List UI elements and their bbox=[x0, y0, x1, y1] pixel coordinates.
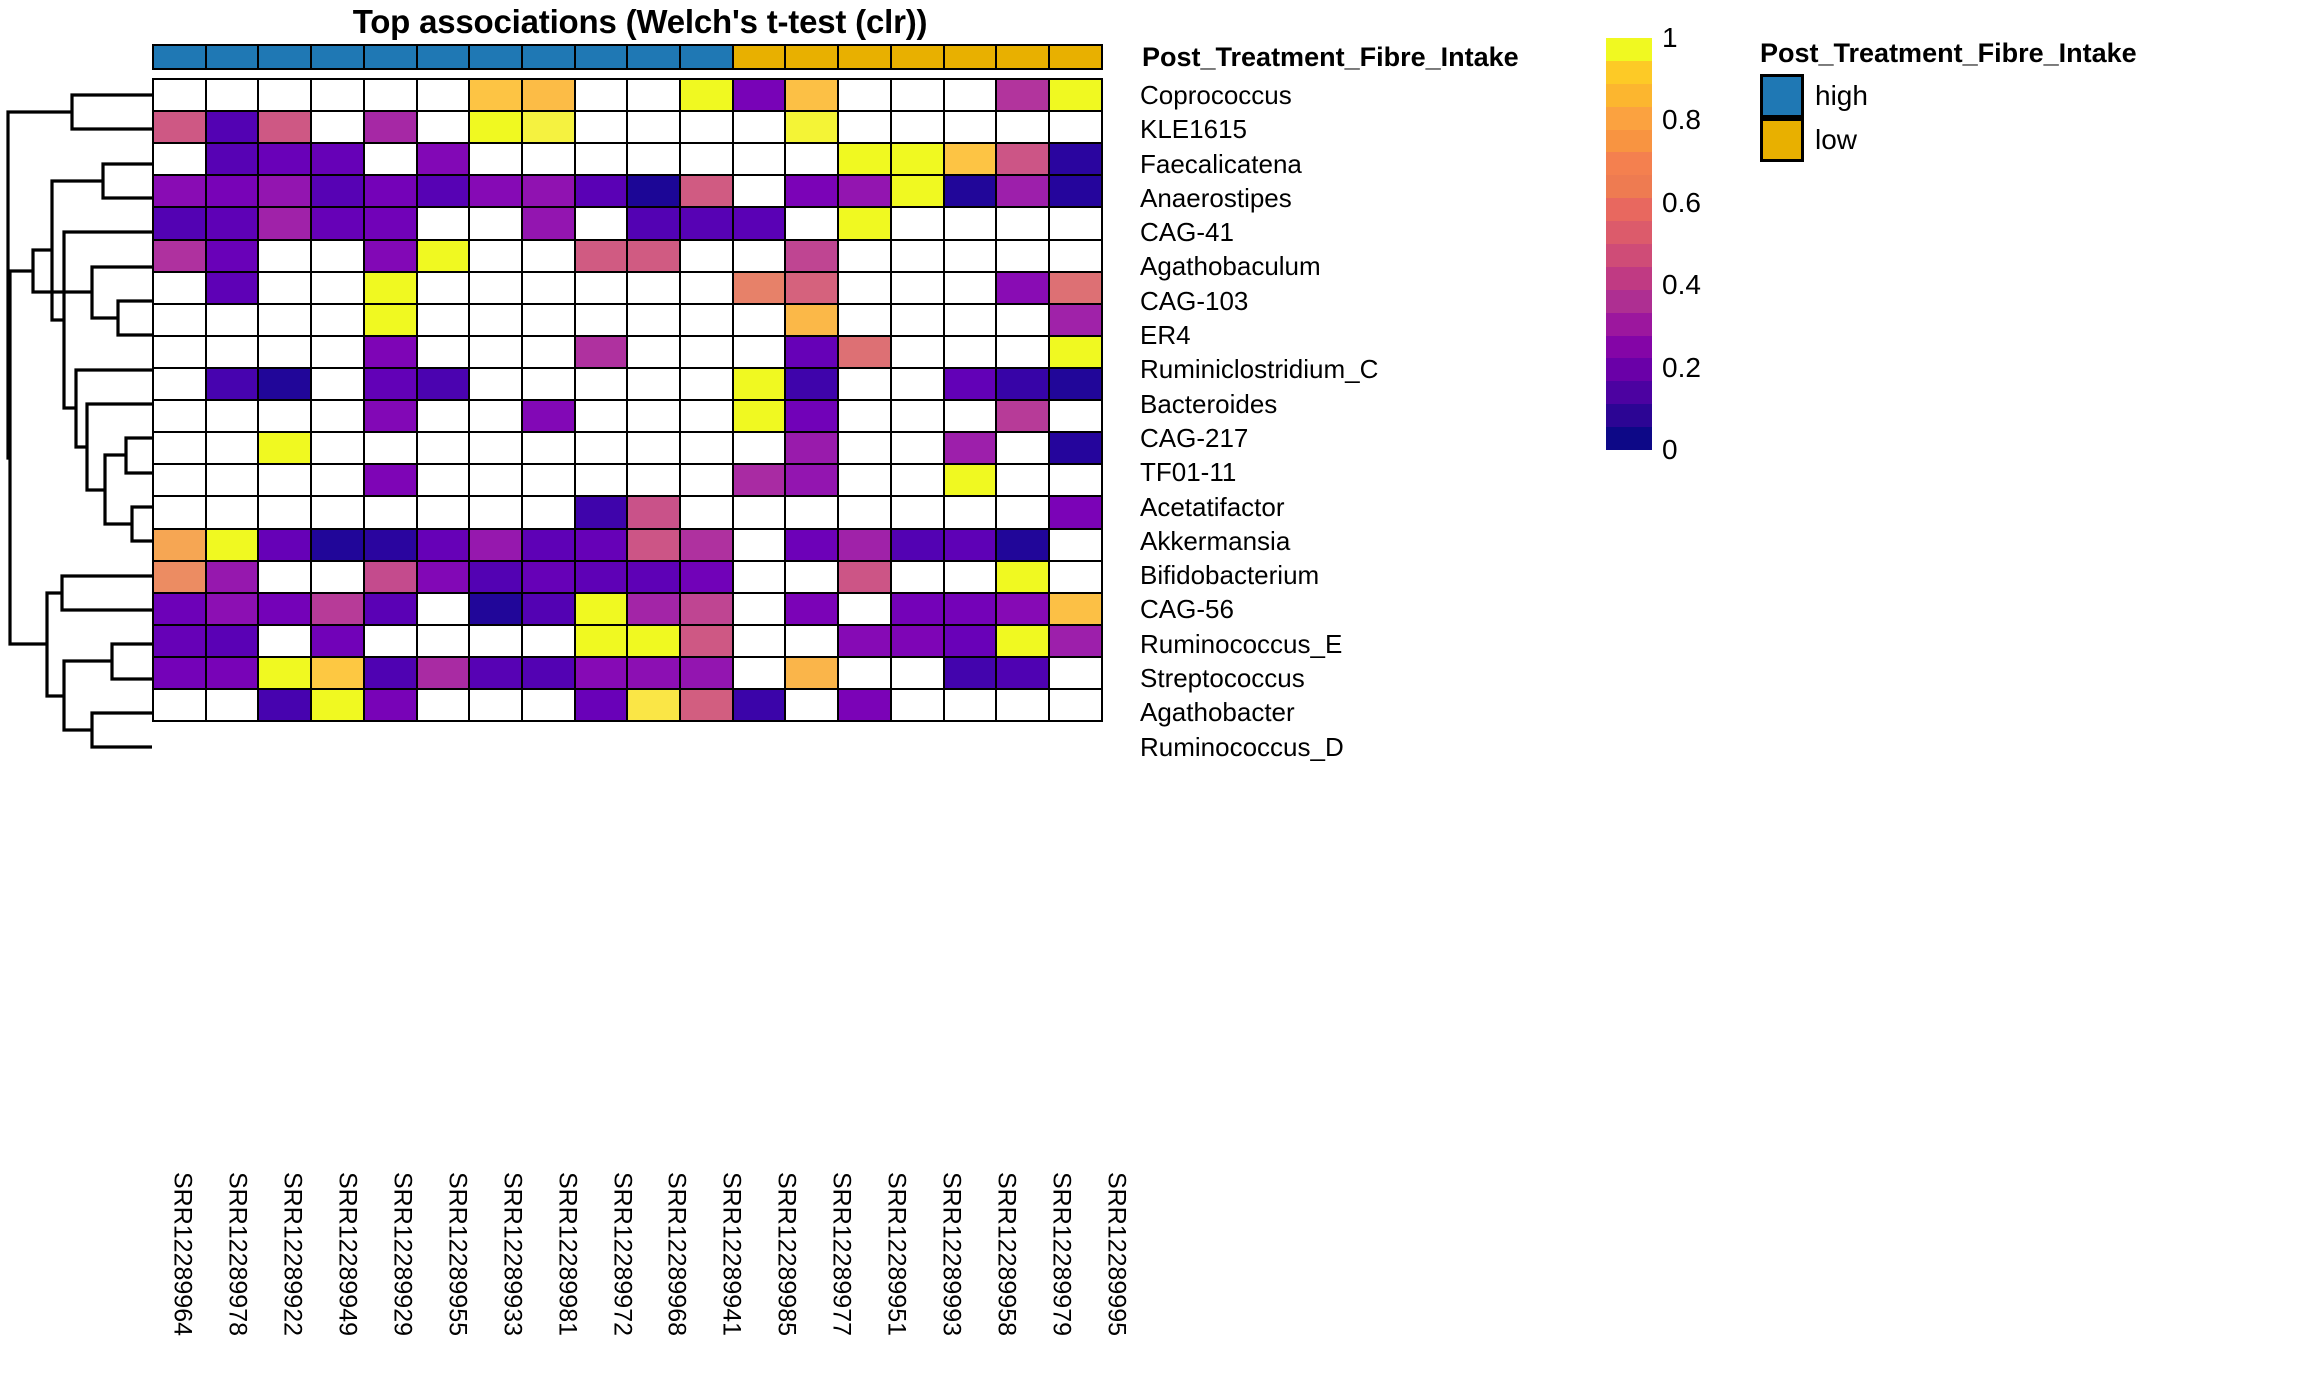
heatmap-cell[interactable] bbox=[837, 399, 892, 433]
heatmap-cell[interactable] bbox=[363, 335, 418, 369]
heatmap-cell[interactable] bbox=[574, 688, 629, 722]
heatmap-cell[interactable] bbox=[416, 495, 471, 529]
heatmap-cell[interactable] bbox=[257, 206, 312, 240]
heatmap-cell[interactable] bbox=[1048, 463, 1103, 497]
heatmap-cell[interactable] bbox=[837, 495, 892, 529]
heatmap-cell[interactable] bbox=[205, 528, 260, 562]
heatmap-cell[interactable] bbox=[257, 335, 312, 369]
heatmap-cell[interactable] bbox=[416, 174, 471, 208]
heatmap-cell[interactable] bbox=[837, 560, 892, 594]
heatmap-cell[interactable] bbox=[521, 206, 576, 240]
heatmap-cell[interactable] bbox=[626, 592, 681, 626]
heatmap-cell[interactable] bbox=[784, 367, 839, 401]
heatmap-cell[interactable] bbox=[416, 624, 471, 658]
heatmap-cell[interactable] bbox=[205, 399, 260, 433]
heatmap-cell[interactable] bbox=[732, 656, 787, 690]
heatmap-cell[interactable] bbox=[1048, 399, 1103, 433]
heatmap-cell[interactable] bbox=[257, 239, 312, 273]
heatmap-cell[interactable] bbox=[1048, 528, 1103, 562]
heatmap-cell[interactable] bbox=[837, 110, 892, 144]
heatmap-cell[interactable] bbox=[152, 110, 207, 144]
heatmap-cell[interactable] bbox=[574, 431, 629, 465]
heatmap-cell[interactable] bbox=[626, 431, 681, 465]
heatmap-cell[interactable] bbox=[152, 271, 207, 305]
heatmap-cell[interactable] bbox=[995, 335, 1050, 369]
heatmap-cell[interactable] bbox=[363, 110, 418, 144]
heatmap-cell[interactable] bbox=[679, 688, 734, 722]
heatmap-cell[interactable] bbox=[943, 206, 998, 240]
heatmap-cell[interactable] bbox=[784, 78, 839, 112]
heatmap-cell[interactable] bbox=[468, 206, 523, 240]
heatmap-cell[interactable] bbox=[363, 528, 418, 562]
heatmap-cell[interactable] bbox=[363, 174, 418, 208]
heatmap-cell[interactable] bbox=[732, 399, 787, 433]
heatmap-cell[interactable] bbox=[521, 463, 576, 497]
heatmap-cell[interactable] bbox=[943, 560, 998, 594]
heatmap-cell[interactable] bbox=[416, 335, 471, 369]
heatmap-cell[interactable] bbox=[943, 656, 998, 690]
heatmap-cell[interactable] bbox=[995, 110, 1050, 144]
heatmap-cell[interactable] bbox=[837, 688, 892, 722]
heatmap-cell[interactable] bbox=[890, 624, 945, 658]
heatmap-cell[interactable] bbox=[363, 78, 418, 112]
heatmap-cell[interactable] bbox=[152, 142, 207, 176]
heatmap-cell[interactable] bbox=[837, 528, 892, 562]
heatmap-cell[interactable] bbox=[468, 335, 523, 369]
heatmap-cell[interactable] bbox=[416, 528, 471, 562]
heatmap-cell[interactable] bbox=[679, 110, 734, 144]
heatmap-cell[interactable] bbox=[310, 495, 365, 529]
heatmap-cell[interactable] bbox=[468, 495, 523, 529]
heatmap-cell[interactable] bbox=[679, 367, 734, 401]
heatmap-cell[interactable] bbox=[995, 656, 1050, 690]
heatmap-cell[interactable] bbox=[310, 206, 365, 240]
heatmap-cell[interactable] bbox=[363, 592, 418, 626]
heatmap-cell[interactable] bbox=[1048, 110, 1103, 144]
heatmap-cell[interactable] bbox=[943, 624, 998, 658]
heatmap-cell[interactable] bbox=[679, 463, 734, 497]
heatmap-cell[interactable] bbox=[257, 78, 312, 112]
heatmap-cell[interactable] bbox=[521, 367, 576, 401]
heatmap-cell[interactable] bbox=[468, 303, 523, 337]
heatmap-cell[interactable] bbox=[890, 174, 945, 208]
heatmap-cell[interactable] bbox=[679, 495, 734, 529]
heatmap-cell[interactable] bbox=[257, 688, 312, 722]
heatmap-cell[interactable] bbox=[679, 399, 734, 433]
heatmap-cell[interactable] bbox=[1048, 174, 1103, 208]
heatmap-cell[interactable] bbox=[626, 367, 681, 401]
heatmap-cell[interactable] bbox=[1048, 495, 1103, 529]
heatmap-cell[interactable] bbox=[416, 592, 471, 626]
heatmap-cell[interactable] bbox=[574, 560, 629, 594]
heatmap-cell[interactable] bbox=[995, 688, 1050, 722]
heatmap-cell[interactable] bbox=[257, 624, 312, 658]
heatmap-cell[interactable] bbox=[574, 463, 629, 497]
heatmap-cell[interactable] bbox=[468, 142, 523, 176]
heatmap-cell[interactable] bbox=[205, 688, 260, 722]
heatmap-cell[interactable] bbox=[890, 271, 945, 305]
heatmap-cell[interactable] bbox=[1048, 592, 1103, 626]
heatmap-cell[interactable] bbox=[626, 78, 681, 112]
heatmap-cell[interactable] bbox=[257, 528, 312, 562]
heatmap-cell[interactable] bbox=[890, 206, 945, 240]
heatmap-cell[interactable] bbox=[310, 239, 365, 273]
heatmap-cell[interactable] bbox=[574, 239, 629, 273]
heatmap-cell[interactable] bbox=[784, 560, 839, 594]
heatmap-cell[interactable] bbox=[943, 303, 998, 337]
heatmap-cell[interactable] bbox=[205, 303, 260, 337]
heatmap-cell[interactable] bbox=[257, 142, 312, 176]
heatmap-cell[interactable] bbox=[521, 624, 576, 658]
heatmap-cell[interactable] bbox=[310, 399, 365, 433]
heatmap-cell[interactable] bbox=[784, 399, 839, 433]
heatmap-cell[interactable] bbox=[205, 624, 260, 658]
heatmap-cell[interactable] bbox=[784, 688, 839, 722]
heatmap-cell[interactable] bbox=[626, 624, 681, 658]
heatmap-cell[interactable] bbox=[205, 239, 260, 273]
heatmap-cell[interactable] bbox=[468, 271, 523, 305]
heatmap-cell[interactable] bbox=[416, 688, 471, 722]
heatmap-cell[interactable] bbox=[205, 174, 260, 208]
heatmap-cell[interactable] bbox=[152, 431, 207, 465]
heatmap-cell[interactable] bbox=[205, 367, 260, 401]
heatmap-cell[interactable] bbox=[837, 431, 892, 465]
heatmap-cell[interactable] bbox=[468, 688, 523, 722]
heatmap-cell[interactable] bbox=[784, 656, 839, 690]
heatmap-cell[interactable] bbox=[1048, 303, 1103, 337]
heatmap-cell[interactable] bbox=[574, 335, 629, 369]
heatmap-cell[interactable] bbox=[943, 367, 998, 401]
heatmap-cell[interactable] bbox=[468, 528, 523, 562]
heatmap-cell[interactable] bbox=[943, 335, 998, 369]
heatmap-cell[interactable] bbox=[152, 624, 207, 658]
heatmap-cell[interactable] bbox=[837, 206, 892, 240]
heatmap-cell[interactable] bbox=[679, 335, 734, 369]
heatmap-cell[interactable] bbox=[257, 463, 312, 497]
heatmap-cell[interactable] bbox=[890, 399, 945, 433]
heatmap-cell[interactable] bbox=[363, 399, 418, 433]
heatmap-cell[interactable] bbox=[995, 206, 1050, 240]
heatmap-cell[interactable] bbox=[205, 431, 260, 465]
heatmap-cell[interactable] bbox=[521, 239, 576, 273]
heatmap-cell[interactable] bbox=[521, 592, 576, 626]
heatmap-cell[interactable] bbox=[626, 560, 681, 594]
heatmap-cell[interactable] bbox=[784, 528, 839, 562]
heatmap-cell[interactable] bbox=[416, 303, 471, 337]
heatmap-cell[interactable] bbox=[679, 206, 734, 240]
heatmap-cell[interactable] bbox=[943, 495, 998, 529]
heatmap-cell[interactable] bbox=[363, 431, 418, 465]
heatmap-cell[interactable] bbox=[468, 463, 523, 497]
heatmap-cell[interactable] bbox=[995, 463, 1050, 497]
heatmap-cell[interactable] bbox=[626, 239, 681, 273]
heatmap-cell[interactable] bbox=[837, 78, 892, 112]
heatmap-cell[interactable] bbox=[784, 206, 839, 240]
heatmap-cell[interactable] bbox=[679, 431, 734, 465]
heatmap-cell[interactable] bbox=[521, 142, 576, 176]
heatmap-cell[interactable] bbox=[205, 206, 260, 240]
heatmap-cell[interactable] bbox=[574, 78, 629, 112]
heatmap-cell[interactable] bbox=[1048, 431, 1103, 465]
heatmap-cell[interactable] bbox=[1048, 335, 1103, 369]
heatmap-cell[interactable] bbox=[152, 592, 207, 626]
heatmap-cell[interactable] bbox=[205, 78, 260, 112]
heatmap-cell[interactable] bbox=[468, 399, 523, 433]
heatmap-cell[interactable] bbox=[837, 656, 892, 690]
heatmap-cell[interactable] bbox=[732, 174, 787, 208]
heatmap-cell[interactable] bbox=[995, 592, 1050, 626]
heatmap-cell[interactable] bbox=[574, 624, 629, 658]
heatmap-cell[interactable] bbox=[784, 174, 839, 208]
heatmap-cell[interactable] bbox=[995, 528, 1050, 562]
heatmap-cell[interactable] bbox=[1048, 624, 1103, 658]
heatmap-cell[interactable] bbox=[468, 239, 523, 273]
heatmap-cell[interactable] bbox=[310, 110, 365, 144]
heatmap-cell[interactable] bbox=[784, 335, 839, 369]
heatmap-cell[interactable] bbox=[416, 463, 471, 497]
heatmap-cell[interactable] bbox=[152, 367, 207, 401]
heatmap-cell[interactable] bbox=[521, 688, 576, 722]
heatmap-cell[interactable] bbox=[732, 688, 787, 722]
heatmap-cell[interactable] bbox=[363, 206, 418, 240]
heatmap-cell[interactable] bbox=[468, 656, 523, 690]
heatmap-cell[interactable] bbox=[679, 656, 734, 690]
heatmap-cell[interactable] bbox=[890, 303, 945, 337]
heatmap-cell[interactable] bbox=[310, 624, 365, 658]
heatmap-cell[interactable] bbox=[679, 78, 734, 112]
heatmap-cell[interactable] bbox=[943, 78, 998, 112]
heatmap-cell[interactable] bbox=[416, 367, 471, 401]
heatmap-cell[interactable] bbox=[732, 431, 787, 465]
heatmap-cell[interactable] bbox=[574, 528, 629, 562]
heatmap-cell[interactable] bbox=[363, 560, 418, 594]
heatmap-cell[interactable] bbox=[363, 656, 418, 690]
heatmap-cell[interactable] bbox=[890, 560, 945, 594]
heatmap-cell[interactable] bbox=[890, 239, 945, 273]
heatmap-cell[interactable] bbox=[732, 142, 787, 176]
heatmap-cell[interactable] bbox=[521, 495, 576, 529]
heatmap-cell[interactable] bbox=[679, 142, 734, 176]
heatmap-cell[interactable] bbox=[416, 110, 471, 144]
heatmap-cell[interactable] bbox=[310, 463, 365, 497]
heatmap-cell[interactable] bbox=[152, 174, 207, 208]
heatmap-cell[interactable] bbox=[1048, 560, 1103, 594]
heatmap-cell[interactable] bbox=[890, 110, 945, 144]
heatmap-cell[interactable] bbox=[890, 656, 945, 690]
heatmap-cell[interactable] bbox=[310, 78, 365, 112]
heatmap-cell[interactable] bbox=[626, 206, 681, 240]
heatmap-cell[interactable] bbox=[363, 239, 418, 273]
heatmap-cell[interactable] bbox=[784, 239, 839, 273]
heatmap-cell[interactable] bbox=[784, 110, 839, 144]
heatmap-cell[interactable] bbox=[890, 495, 945, 529]
heatmap-cell[interactable] bbox=[521, 78, 576, 112]
heatmap-cell[interactable] bbox=[310, 142, 365, 176]
heatmap-cell[interactable] bbox=[521, 528, 576, 562]
heatmap-cell[interactable] bbox=[152, 239, 207, 273]
heatmap-cell[interactable] bbox=[468, 110, 523, 144]
heatmap-cell[interactable] bbox=[732, 78, 787, 112]
heatmap-cell[interactable] bbox=[679, 560, 734, 594]
heatmap-cell[interactable] bbox=[416, 399, 471, 433]
heatmap-cell[interactable] bbox=[1048, 142, 1103, 176]
heatmap-cell[interactable] bbox=[205, 271, 260, 305]
heatmap-cell[interactable] bbox=[837, 592, 892, 626]
heatmap-cell[interactable] bbox=[784, 431, 839, 465]
heatmap-cell[interactable] bbox=[890, 688, 945, 722]
heatmap-cell[interactable] bbox=[995, 495, 1050, 529]
heatmap-cell[interactable] bbox=[1048, 239, 1103, 273]
heatmap-cell[interactable] bbox=[995, 78, 1050, 112]
heatmap-cell[interactable] bbox=[626, 528, 681, 562]
heatmap-cell[interactable] bbox=[310, 174, 365, 208]
heatmap-cell[interactable] bbox=[679, 592, 734, 626]
heatmap-cell[interactable] bbox=[521, 335, 576, 369]
heatmap-cell[interactable] bbox=[837, 271, 892, 305]
heatmap-cell[interactable] bbox=[784, 142, 839, 176]
heatmap-cell[interactable] bbox=[574, 592, 629, 626]
heatmap-cell[interactable] bbox=[416, 239, 471, 273]
heatmap-cell[interactable] bbox=[943, 271, 998, 305]
heatmap-cell[interactable] bbox=[890, 431, 945, 465]
heatmap-cell[interactable] bbox=[995, 431, 1050, 465]
heatmap-cell[interactable] bbox=[574, 142, 629, 176]
heatmap-cell[interactable] bbox=[732, 206, 787, 240]
heatmap-cell[interactable] bbox=[416, 431, 471, 465]
heatmap-cell[interactable] bbox=[363, 495, 418, 529]
heatmap-cell[interactable] bbox=[732, 271, 787, 305]
heatmap-cell[interactable] bbox=[1048, 688, 1103, 722]
heatmap-cell[interactable] bbox=[310, 528, 365, 562]
heatmap-cell[interactable] bbox=[995, 303, 1050, 337]
heatmap-cell[interactable] bbox=[363, 463, 418, 497]
heatmap-cell[interactable] bbox=[626, 142, 681, 176]
heatmap-cell[interactable] bbox=[521, 399, 576, 433]
heatmap-cell[interactable] bbox=[890, 335, 945, 369]
heatmap-cell[interactable] bbox=[310, 271, 365, 305]
heatmap-cell[interactable] bbox=[995, 399, 1050, 433]
heatmap-cell[interactable] bbox=[732, 624, 787, 658]
heatmap-cell[interactable] bbox=[943, 528, 998, 562]
heatmap-cell[interactable] bbox=[521, 271, 576, 305]
heatmap-cell[interactable] bbox=[521, 110, 576, 144]
heatmap-cell[interactable] bbox=[995, 271, 1050, 305]
heatmap-cell[interactable] bbox=[679, 174, 734, 208]
heatmap-cell[interactable] bbox=[679, 271, 734, 305]
heatmap-cell[interactable] bbox=[732, 463, 787, 497]
heatmap-cell[interactable] bbox=[995, 174, 1050, 208]
heatmap-cell[interactable] bbox=[152, 399, 207, 433]
heatmap-cell[interactable] bbox=[732, 335, 787, 369]
heatmap-cell[interactable] bbox=[257, 495, 312, 529]
heatmap-cell[interactable] bbox=[152, 495, 207, 529]
heatmap-cell[interactable] bbox=[626, 174, 681, 208]
heatmap-cell[interactable] bbox=[257, 271, 312, 305]
heatmap-cell[interactable] bbox=[521, 174, 576, 208]
heatmap-cell[interactable] bbox=[205, 335, 260, 369]
heatmap-cell[interactable] bbox=[310, 303, 365, 337]
heatmap-cell[interactable] bbox=[626, 303, 681, 337]
heatmap-cell[interactable] bbox=[521, 303, 576, 337]
heatmap-cell[interactable] bbox=[416, 206, 471, 240]
heatmap-cell[interactable] bbox=[521, 560, 576, 594]
heatmap-cell[interactable] bbox=[784, 463, 839, 497]
heatmap-cell[interactable] bbox=[152, 335, 207, 369]
heatmap-cell[interactable] bbox=[732, 592, 787, 626]
heatmap-cell[interactable] bbox=[732, 367, 787, 401]
heatmap-cell[interactable] bbox=[784, 271, 839, 305]
heatmap-cell[interactable] bbox=[363, 142, 418, 176]
heatmap-cell[interactable] bbox=[310, 688, 365, 722]
heatmap-cell[interactable] bbox=[943, 463, 998, 497]
heatmap-cell[interactable] bbox=[574, 110, 629, 144]
heatmap-cell[interactable] bbox=[416, 656, 471, 690]
heatmap-cell[interactable] bbox=[626, 495, 681, 529]
heatmap-cell[interactable] bbox=[784, 592, 839, 626]
heatmap-cell[interactable] bbox=[205, 110, 260, 144]
heatmap-cell[interactable] bbox=[626, 688, 681, 722]
heatmap-cell[interactable] bbox=[152, 206, 207, 240]
heatmap-cell[interactable] bbox=[363, 303, 418, 337]
heatmap-cell[interactable] bbox=[732, 303, 787, 337]
heatmap-cell[interactable] bbox=[626, 656, 681, 690]
heatmap-cell[interactable] bbox=[363, 367, 418, 401]
heatmap-cell[interactable] bbox=[732, 110, 787, 144]
heatmap-cell[interactable] bbox=[152, 528, 207, 562]
heatmap-cell[interactable] bbox=[257, 174, 312, 208]
heatmap-cell[interactable] bbox=[416, 78, 471, 112]
heatmap-cell[interactable] bbox=[995, 142, 1050, 176]
heatmap-cell[interactable] bbox=[205, 463, 260, 497]
heatmap-cell[interactable] bbox=[152, 560, 207, 594]
heatmap-cell[interactable] bbox=[257, 303, 312, 337]
heatmap-cell[interactable] bbox=[468, 431, 523, 465]
heatmap-cell[interactable] bbox=[679, 624, 734, 658]
heatmap-grid[interactable] bbox=[152, 78, 1101, 720]
heatmap-cell[interactable] bbox=[1048, 367, 1103, 401]
heatmap-cell[interactable] bbox=[732, 239, 787, 273]
heatmap-cell[interactable] bbox=[574, 174, 629, 208]
heatmap-cell[interactable] bbox=[310, 335, 365, 369]
heatmap-cell[interactable] bbox=[205, 495, 260, 529]
heatmap-cell[interactable] bbox=[943, 431, 998, 465]
heatmap-cell[interactable] bbox=[784, 495, 839, 529]
heatmap-cell[interactable] bbox=[416, 271, 471, 305]
heatmap-cell[interactable] bbox=[468, 592, 523, 626]
heatmap-cell[interactable] bbox=[574, 367, 629, 401]
heatmap-cell[interactable] bbox=[310, 367, 365, 401]
heatmap-cell[interactable] bbox=[1048, 656, 1103, 690]
heatmap-cell[interactable] bbox=[310, 592, 365, 626]
heatmap-cell[interactable] bbox=[732, 528, 787, 562]
heatmap-cell[interactable] bbox=[205, 142, 260, 176]
heatmap-cell[interactable] bbox=[890, 367, 945, 401]
heatmap-cell[interactable] bbox=[837, 624, 892, 658]
heatmap-cell[interactable] bbox=[626, 271, 681, 305]
heatmap-cell[interactable] bbox=[995, 624, 1050, 658]
heatmap-cell[interactable] bbox=[257, 399, 312, 433]
heatmap-cell[interactable] bbox=[943, 174, 998, 208]
heatmap-cell[interactable] bbox=[679, 239, 734, 273]
heatmap-cell[interactable] bbox=[205, 560, 260, 594]
heatmap-cell[interactable] bbox=[732, 495, 787, 529]
heatmap-cell[interactable] bbox=[626, 335, 681, 369]
heatmap-cell[interactable] bbox=[152, 688, 207, 722]
heatmap-cell[interactable] bbox=[679, 303, 734, 337]
heatmap-cell[interactable] bbox=[363, 688, 418, 722]
heatmap-cell[interactable] bbox=[943, 399, 998, 433]
heatmap-cell[interactable] bbox=[574, 206, 629, 240]
